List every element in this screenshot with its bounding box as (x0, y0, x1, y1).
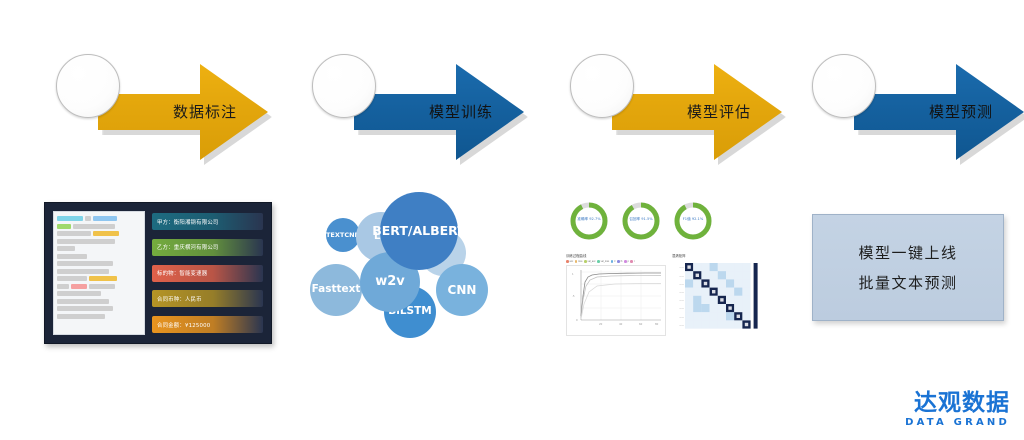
confusion-cell (693, 296, 701, 304)
step-2[interactable]: 模型训练 2 (312, 54, 527, 169)
legend-label: r (634, 260, 635, 263)
step-3-arrow: 模型评估 (612, 62, 782, 162)
text-segment (73, 224, 115, 229)
document-text-line (57, 231, 141, 236)
extracted-field-tag-list: 甲方：衡阳湘钢有限公司乙方：重庆横河有限公司标的物：智能变速器合同币种：人民币合… (152, 211, 263, 335)
confusion-cell (710, 271, 718, 279)
confusion-cell (734, 296, 742, 304)
legend-label: f1 (621, 260, 623, 263)
confusion-cell (701, 263, 709, 271)
step-4-circle (812, 54, 876, 118)
confusion-cell (685, 320, 693, 328)
confusion-cell (718, 271, 726, 279)
confusion-cell (718, 279, 726, 287)
legend-color-dot (566, 260, 569, 263)
confusion-matrix-svg: ———————————————————————— (672, 260, 776, 330)
confusion-cell (710, 304, 718, 312)
svg-text:——: —— (679, 275, 684, 278)
confusion-cell (701, 320, 709, 328)
document-text-line (57, 239, 141, 244)
confusion-cell (710, 312, 718, 320)
legend-color-dot (597, 260, 600, 263)
text-segment (57, 231, 91, 236)
svg-text:40: 40 (619, 322, 623, 326)
svg-text:——: —— (679, 308, 684, 311)
text-segment (89, 284, 115, 289)
legend-chip: f1 (617, 260, 623, 263)
text-segment (57, 291, 101, 296)
step-2-circle (312, 54, 376, 118)
legend-chip: lr (611, 260, 616, 263)
training-curve-plot: 0 20 40 60 80 .5 1 (566, 265, 666, 336)
confusion-cell (734, 304, 742, 312)
confusion-cell (710, 296, 718, 304)
confusion-cell (685, 279, 693, 287)
legend-color-dot (575, 260, 578, 263)
extracted-field-tag[interactable]: 甲方：衡阳湘钢有限公司 (152, 213, 263, 230)
extracted-field-tag[interactable]: 合同币种：人民币 (152, 290, 263, 307)
svg-text:60: 60 (639, 322, 643, 326)
text-segment (85, 216, 91, 221)
svg-text:——: —— (679, 267, 684, 270)
confusion-cell (742, 296, 750, 304)
confusion-cell (734, 279, 742, 287)
confusion-cell (685, 312, 693, 320)
model-bubble[interactable]: TEXTCNN (326, 218, 360, 252)
confusion-matrix-plot: ———————————————————————— (672, 260, 778, 335)
svg-text:——: —— (679, 283, 684, 286)
model-bubble[interactable]: Fasttext (310, 264, 362, 316)
confusion-cell (718, 312, 726, 320)
document-text-line (57, 261, 141, 266)
text-segment (57, 276, 87, 281)
contract-document-text (53, 211, 145, 335)
legend-label: p (628, 260, 629, 263)
confusion-cell (726, 320, 734, 328)
extracted-field-tag[interactable]: 乙方：重庆横河有限公司 (152, 239, 263, 256)
confusion-cell (693, 288, 701, 296)
legend-color-dot (630, 260, 633, 263)
model-bubble[interactable]: CNN (436, 264, 488, 316)
svg-text:——: —— (679, 291, 684, 294)
document-text-line (57, 276, 141, 281)
confusion-cell (726, 296, 734, 304)
legend-color-dot (611, 260, 614, 263)
deploy-panel[interactable]: 模型一键上线 批量文本预测 (812, 214, 1004, 321)
step-1-arrow: 数据标注 (98, 62, 268, 162)
confusion-cell (701, 312, 709, 320)
bubble-label-part: ALBERT (412, 224, 465, 237)
document-text-line (57, 224, 141, 229)
text-segment (57, 284, 69, 289)
confusion-cell (734, 271, 742, 279)
confusion-cell (742, 263, 750, 271)
confusion-cell (718, 288, 726, 296)
text-segment (57, 261, 113, 266)
model-bubble[interactable]: BERT/ALBERT (380, 192, 458, 270)
document-text-line (57, 306, 141, 311)
confusion-cell (742, 288, 750, 296)
confusion-cell (701, 304, 709, 312)
confusion-cell (742, 304, 750, 312)
confusion-cell (685, 288, 693, 296)
data-annotation-screenshot[interactable]: 甲方：衡阳湘钢有限公司乙方：重庆横河有限公司标的物：智能变速器合同币种：人民币合… (44, 202, 272, 344)
model-bubble-cloud[interactable]: BERT/ALBERTTEXTCNNLRw2vFasttextBiLSTMCNN (308, 190, 520, 348)
document-text-line (57, 314, 141, 319)
confusion-cell (710, 279, 718, 287)
document-text-line (57, 269, 141, 274)
legend-label: val_acc (588, 260, 596, 263)
metric-donut-label: 召回率 91.5% (620, 217, 662, 222)
step-2-arrow: 模型训练 (354, 62, 524, 162)
confusion-cell (685, 296, 693, 304)
legend-chip: r (630, 260, 634, 263)
legend-color-dot (584, 260, 587, 263)
document-text-line (57, 246, 141, 251)
metric-donut[interactable]: 召回率 91.5% (620, 200, 662, 242)
confusion-cell (710, 320, 718, 328)
highlighted-entity (71, 284, 87, 289)
document-text-line (57, 254, 141, 259)
svg-text:.5: .5 (572, 294, 575, 298)
confusion-cell (742, 279, 750, 287)
metric-donut-label: 准确率 92.7% (568, 217, 610, 222)
confusion-cell (734, 263, 742, 271)
highlighted-entity (93, 216, 117, 221)
confusion-cell (701, 288, 709, 296)
legend-label: acc (570, 260, 574, 263)
confusion-cell (701, 296, 709, 304)
step-4-label: 模型预测 (906, 98, 1016, 126)
highlighted-entity (57, 224, 71, 229)
highlighted-entity (57, 216, 83, 221)
metric-donut-label: F1值 92.1% (672, 217, 714, 222)
colorbar (754, 263, 758, 329)
bubble-label-part: CNN (448, 284, 477, 297)
legend-chip: val_loss (597, 260, 609, 263)
confusion-cell (718, 263, 726, 271)
metric-donut[interactable]: F1值 92.1% (672, 200, 714, 242)
step-4-arrow: 模型预测 (854, 62, 1024, 162)
brand-logo: 达观数据 DATA GRAND (905, 391, 1010, 428)
confusion-cell (726, 263, 734, 271)
legend-label: loss (578, 260, 582, 263)
confusion-matrix-card[interactable]: 混淆矩阵 ———————————————————————— (672, 253, 778, 335)
confusion-cell (701, 271, 709, 279)
legend-label: lr (614, 260, 615, 263)
metric-donut[interactable]: 准确率 92.7% (568, 200, 610, 242)
metric-donut-group: 准确率 92.7%召回率 91.5%F1值 92.1% (568, 198, 728, 246)
step-3-label: 模型评估 (664, 98, 774, 126)
bubble-label-part: BERT/ (372, 224, 412, 237)
highlighted-entity (89, 276, 117, 281)
svg-text:——: —— (679, 299, 684, 302)
svg-text:80: 80 (655, 322, 659, 326)
step-1-label: 数据标注 (150, 98, 260, 126)
confusion-cell (685, 271, 693, 279)
text-segment (57, 314, 105, 319)
document-text-line (57, 284, 141, 289)
confusion-cell (693, 320, 701, 328)
document-text-line (57, 299, 141, 304)
confusion-cell (693, 312, 701, 320)
training-curve-svg: 0 20 40 60 80 .5 1 (567, 266, 665, 330)
highlighted-entity (93, 231, 119, 236)
bubble-label-part: TEXT (326, 232, 344, 239)
legend-color-dot (624, 260, 627, 263)
confusion-cell (718, 304, 726, 312)
training-curve-card[interactable]: 训练过程曲线 acclossval_accval_losslrf1pr (566, 253, 666, 336)
bubble-label-part: Fasttext (312, 284, 361, 295)
legend-chip: loss (575, 260, 583, 263)
deploy-line-1: 模型一键上线 (858, 242, 957, 263)
confusion-cell (710, 263, 718, 271)
extracted-field-tag[interactable]: 合同金额：¥125000 (152, 316, 263, 333)
step-1-circle (56, 54, 120, 118)
svg-text:——: —— (679, 316, 684, 319)
document-text-line (57, 216, 141, 221)
training-curve-title: 训练过程曲线 (566, 253, 666, 258)
legend-chip: acc (566, 260, 573, 263)
legend-chip: val_acc (584, 260, 596, 263)
confusion-cell (718, 320, 726, 328)
confusion-cell (726, 288, 734, 296)
bubble-label-part: w2v (375, 275, 405, 289)
text-segment (57, 269, 109, 274)
confusion-cell (693, 304, 701, 312)
slide-canvas: 数据标注 1 模型训练 2 模型评估 3 模型预测 4 (0, 0, 1024, 440)
legend-chip: p (624, 260, 629, 263)
legend-label: val_loss (601, 260, 610, 263)
text-segment (57, 299, 109, 304)
confusion-cell (726, 312, 734, 320)
confusion-matrix-title: 混淆矩阵 (672, 253, 778, 258)
deploy-line-2: 批量文本预测 (858, 272, 957, 293)
confusion-cell (742, 312, 750, 320)
brand-logo-cn: 达观数据 (905, 391, 1010, 416)
confusion-cell (693, 279, 701, 287)
text-segment (57, 254, 87, 259)
step-1[interactable]: 数据标注 1 (56, 54, 271, 169)
extracted-field-tag[interactable]: 标的物：智能变速器 (152, 265, 263, 282)
legend-color-dot (617, 260, 620, 263)
confusion-cell (693, 263, 701, 271)
step-3[interactable]: 模型评估 3 (570, 54, 785, 169)
step-3-circle (570, 54, 634, 118)
text-segment (57, 306, 113, 311)
step-4[interactable]: 模型预测 4 (812, 54, 1024, 169)
brand-logo-en: DATA GRAND (905, 417, 1010, 428)
confusion-cell (734, 288, 742, 296)
confusion-cell (734, 320, 742, 328)
confusion-cell (726, 279, 734, 287)
confusion-cell (685, 304, 693, 312)
text-segment (57, 246, 75, 251)
svg-text:20: 20 (599, 322, 603, 326)
text-segment (57, 239, 115, 244)
step-2-label: 模型训练 (406, 98, 516, 126)
svg-text:——: —— (679, 324, 684, 327)
confusion-cell (742, 271, 750, 279)
document-text-line (57, 291, 141, 296)
confusion-cell (726, 271, 734, 279)
training-curve-legend: acclossval_accval_losslrf1pr (566, 260, 662, 263)
evaluation-dashboard[interactable]: 准确率 92.7%召回率 91.5%F1值 92.1% 训练过程曲线 acclo… (566, 198, 782, 344)
